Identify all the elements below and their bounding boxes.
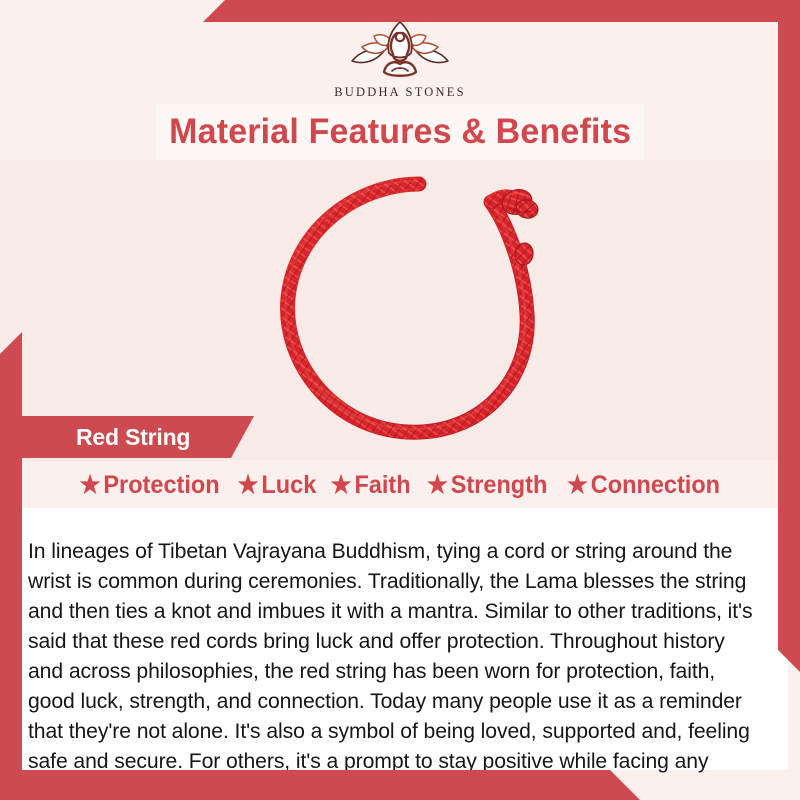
description-panel: In lineages of Tibetan Vajrayana Buddhis… [20, 508, 788, 770]
feature-item-luck: ★ Luck [237, 471, 316, 500]
red-string-bracelet-image [255, 166, 585, 456]
brand-wordmark: BUDDHA STONES [334, 85, 466, 100]
decorative-bottom-bar [0, 770, 640, 800]
feature-item-faith: ★ Faith [331, 471, 411, 500]
product-name-ribbon: Red String [20, 416, 254, 458]
feature-label: Connection [590, 471, 719, 500]
feature-item-strength: ★ Strength [427, 471, 548, 500]
title-band: Material Features & Benefits [156, 104, 644, 160]
decorative-left-bar [0, 332, 22, 800]
brand-header: BUDDHA STONES [0, 0, 800, 104]
feature-label: Faith [355, 471, 411, 500]
feature-label: Protection [104, 471, 220, 500]
star-icon: ★ [427, 473, 448, 498]
page-title: Material Features & Benefits [169, 112, 631, 152]
feature-item-protection: ★ Protection [80, 471, 220, 500]
brand-logo: BUDDHA STONES [334, 17, 466, 104]
feature-label: Strength [451, 471, 548, 500]
star-icon: ★ [237, 473, 258, 498]
feature-list: ★ Protection ★ Luck ★ Faith ★ Strength ★… [0, 462, 800, 508]
product-image-area [0, 160, 800, 460]
star-icon: ★ [80, 473, 101, 498]
infographic-page: BUDDHA STONES Material Features & Benefi… [0, 0, 800, 800]
feature-label: Luck [261, 471, 316, 500]
description-paragraph: In lineages of Tibetan Vajrayana Buddhis… [28, 536, 763, 800]
feature-item-connection: ★ Connection [567, 471, 720, 500]
product-name-label: Red String [76, 424, 190, 451]
lotus-meditation-icon [344, 17, 456, 83]
star-icon: ★ [567, 473, 588, 498]
star-icon: ★ [331, 473, 352, 498]
